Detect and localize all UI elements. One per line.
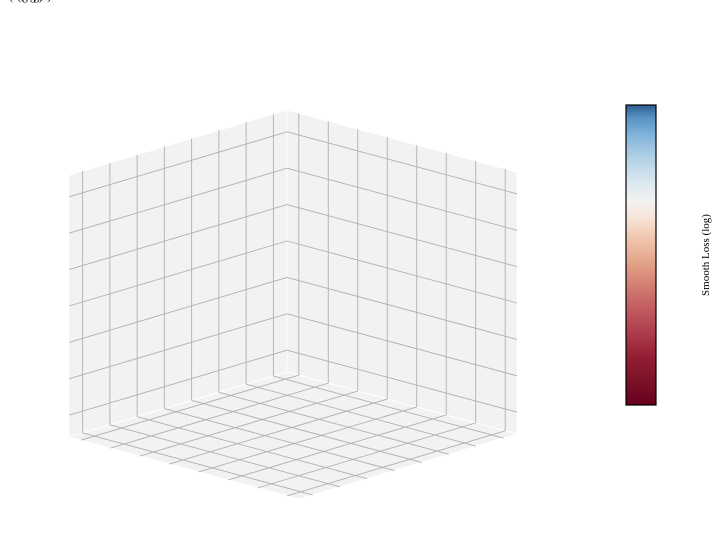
z-axis-label: Smooth Loss (log) (0, 0, 43, 3)
colorbar-label: Smooth Loss (log) (700, 214, 712, 296)
axis-title-z: Smooth Loss (log) (0, 0, 43, 3)
colorbar-gradient[interactable] (626, 105, 656, 405)
figure-3d-surface-plot: Learning Rate (log10) Batch Size (log10)… (0, 0, 718, 538)
surface-plot-canvas: Learning Rate (log10) Batch Size (log10)… (0, 0, 718, 538)
